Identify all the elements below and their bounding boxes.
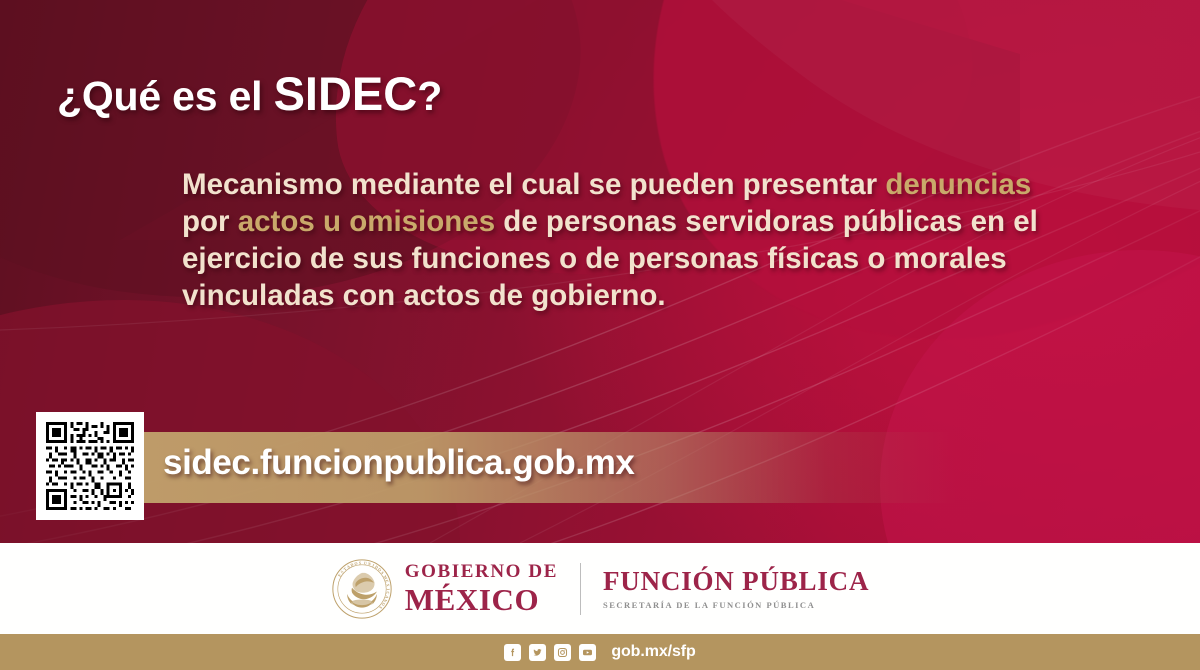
qr-code[interactable] — [36, 412, 144, 520]
funcion-publica-wordmark: FUNCIÓN PÚBLICA SECRETARÍA DE LA FUNCIÓN… — [603, 568, 869, 610]
description-highlight-actos: actos u omisiones — [238, 205, 495, 238]
description-text: Mecanismo mediante el cual se pueden pre… — [182, 166, 1042, 314]
instagram-icon[interactable] — [554, 644, 571, 661]
description-highlight-denuncias: denuncias — [885, 168, 1031, 201]
svg-text:S: S — [358, 560, 361, 565]
qr-code-icon — [46, 422, 134, 510]
svg-text:E: E — [384, 579, 390, 583]
svg-text:I: I — [386, 588, 391, 590]
twitter-icon[interactable] — [529, 644, 546, 661]
youtube-icon[interactable] — [579, 644, 596, 661]
title-brand: SIDEC — [274, 67, 418, 120]
social-url[interactable]: gob.mx/sfp — [611, 643, 695, 661]
sidec-poster: ¿Qué es el SIDEC? Mecanismo mediante el … — [0, 0, 1200, 670]
logo-row: E S T A D O S U N I D O S M E X I — [331, 558, 870, 620]
gobierno-line2: MÉXICO — [405, 584, 558, 615]
social-bar: gob.mx/sfp — [0, 634, 1200, 670]
title-prefix: ¿Qué es el — [57, 73, 274, 119]
svg-text:X: X — [385, 583, 390, 587]
title-suffix: ? — [417, 73, 442, 119]
svg-text:N: N — [367, 560, 372, 566]
description-segment-2: por — [182, 205, 238, 238]
dependency-subtitle: SECRETARÍA DE LA FUNCIÓN PÚBLICA — [603, 601, 869, 610]
hero-background: ¿Qué es el SIDEC? Mecanismo mediante el … — [0, 0, 1200, 543]
footer-logos: E S T A D O S U N I D O S M E X I — [0, 543, 1200, 634]
svg-text:O: O — [354, 560, 359, 566]
facebook-icon[interactable] — [504, 644, 521, 661]
page-title: ¿Qué es el SIDEC? — [57, 66, 442, 121]
gobierno-line1: GOBIERNO DE — [405, 562, 558, 581]
coat-of-arms-icon: E S T A D O S U N I D O S M E X I — [331, 558, 393, 620]
logo-divider — [580, 563, 581, 615]
description-segment-1: Mecanismo mediante el cual se pueden pre… — [182, 168, 885, 201]
sidec-url[interactable]: sidec.funcionpublica.gob.mx — [163, 443, 634, 483]
gobierno-wordmark: GOBIERNO DE MÉXICO — [405, 562, 558, 615]
dependency-name: FUNCIÓN PÚBLICA — [603, 568, 869, 595]
